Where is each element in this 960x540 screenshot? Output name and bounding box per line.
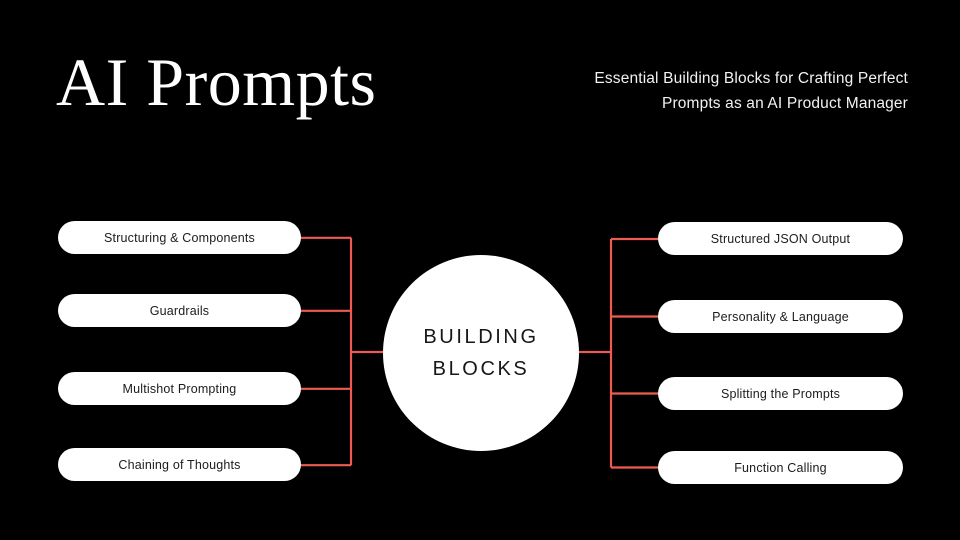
page-title: AI Prompts (56, 48, 376, 116)
branch-node-function-calling[interactable]: Function Calling (658, 451, 903, 484)
branch-node-chaining-of-thoughts[interactable]: Chaining of Thoughts (58, 448, 301, 481)
branch-label: Structured JSON Output (711, 232, 850, 246)
branch-node-personality-and-language[interactable]: Personality & Language (658, 300, 903, 333)
branch-node-structured-json-output[interactable]: Structured JSON Output (658, 222, 903, 255)
subtitle-line-1: Essential Building Blocks for Crafting P… (488, 66, 908, 91)
branch-node-guardrails[interactable]: Guardrails (58, 294, 301, 327)
center-node-building-blocks[interactable]: BUILDING BLOCKS (383, 255, 579, 451)
branch-label: Structuring & Components (104, 231, 255, 245)
subtitle-line-2: Prompts as an AI Product Manager (488, 91, 908, 116)
branch-label: Function Calling (734, 461, 827, 475)
branch-label: Splitting the Prompts (721, 387, 840, 401)
right-connectors (577, 239, 659, 468)
left-connectors (300, 238, 385, 465)
page-subtitle: Essential Building Blocks for Crafting P… (488, 66, 908, 116)
branch-node-structuring-and-components[interactable]: Structuring & Components (58, 221, 301, 254)
branch-node-splitting-the-prompts[interactable]: Splitting the Prompts (658, 377, 903, 410)
center-node-line-1: BUILDING (423, 321, 538, 353)
branch-label: Personality & Language (712, 310, 849, 324)
center-node-line-2: BLOCKS (433, 353, 530, 385)
branch-node-multishot-prompting[interactable]: Multishot Prompting (58, 372, 301, 405)
branch-label: Chaining of Thoughts (118, 458, 240, 472)
slide-canvas: AI Prompts Essential Building Blocks for… (0, 0, 960, 540)
branch-label: Multishot Prompting (123, 382, 237, 396)
branch-label: Guardrails (150, 304, 209, 318)
